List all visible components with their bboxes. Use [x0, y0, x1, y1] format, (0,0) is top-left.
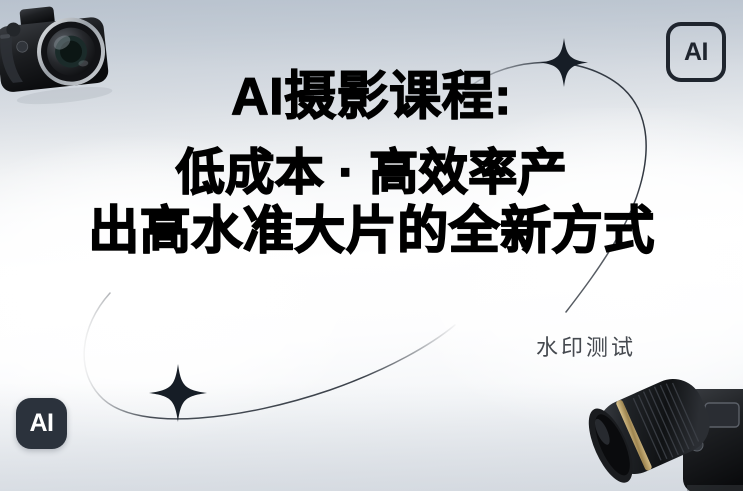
- title-block: AI摄影课程: 低成本 · 高效率产 出高水准大片的全新方式: [0, 70, 743, 260]
- page-subtitle: 低成本 · 高效率产 出高水准大片的全新方式: [0, 146, 743, 260]
- poster-canvas: AI摄影课程: 低成本 · 高效率产 出高水准大片的全新方式 水印测试 AI A…: [0, 0, 743, 491]
- ai-badge-bottom-left[interactable]: AI: [16, 398, 67, 449]
- ai-badge-bottom-left-label: AI: [30, 409, 54, 438]
- ai-badge-top-right-label: AI: [684, 38, 708, 67]
- page-title: AI摄影课程:: [0, 70, 743, 124]
- subtitle-line-2: 出高水准大片的全新方式: [0, 202, 743, 260]
- ai-badge-top-right[interactable]: AI: [666, 22, 726, 82]
- watermark-text: 水印测试: [536, 330, 636, 362]
- subtitle-line-1: 低成本 · 高效率产: [0, 146, 743, 202]
